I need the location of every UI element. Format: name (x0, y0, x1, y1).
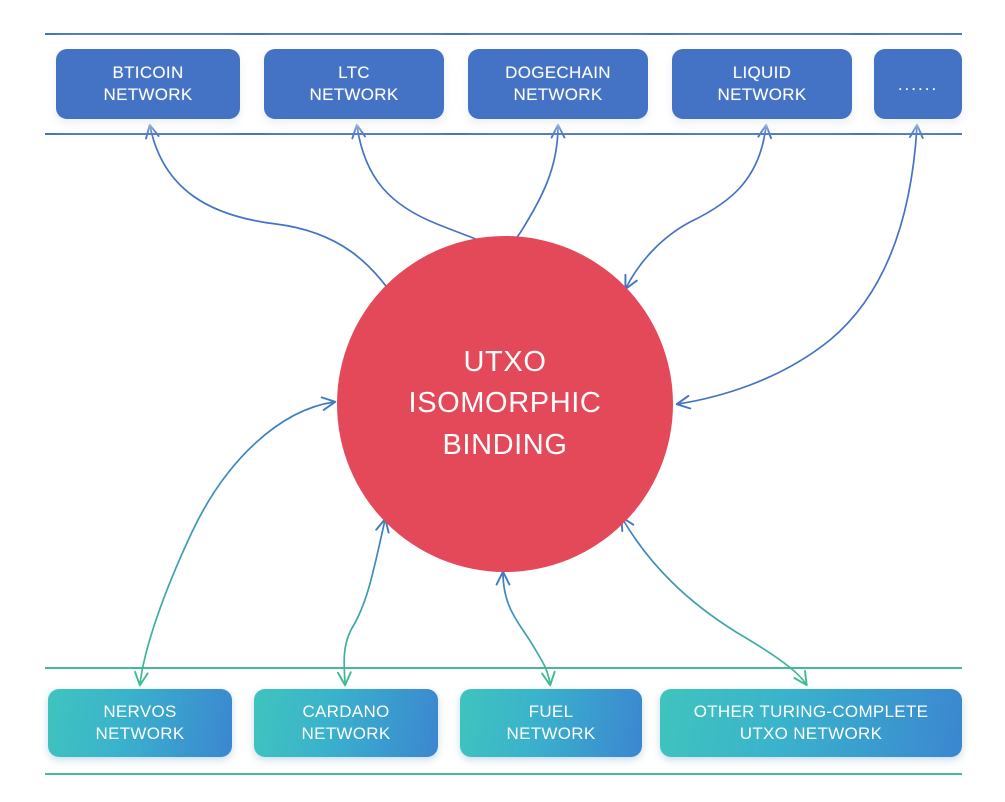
top-rule-upper (45, 33, 962, 35)
hub-utxo-isomorphic-binding[interactable]: UTXO ISOMORPHIC BINDING (337, 236, 673, 572)
node-nervos-network[interactable]: NERVOS NETWORK (48, 689, 232, 757)
node-more-networks[interactable]: ...... (874, 49, 962, 119)
diagram-canvas: BTICOIN NETWORK LTC NETWORK DOGECHAIN NE… (0, 0, 1005, 802)
node-ltc-network[interactable]: LTC NETWORK (264, 49, 444, 119)
connector-liquid (626, 126, 766, 288)
node-label: FUEL NETWORK (460, 701, 642, 746)
node-label: OTHER TURING-COMPLETE UTXO NETWORK (660, 701, 962, 746)
node-fuel-network[interactable]: FUEL NETWORK (460, 689, 642, 757)
node-cardano-network[interactable]: CARDANO NETWORK (254, 689, 438, 757)
bottom-rule-lower (45, 773, 962, 775)
connector-ltc (357, 126, 503, 252)
connector-dogechain (506, 126, 558, 253)
node-bitcoin-network[interactable]: BTICOIN NETWORK (56, 49, 240, 119)
node-label: BTICOIN NETWORK (56, 62, 240, 107)
node-label: DOGECHAIN NETWORK (468, 62, 648, 107)
connector-other-utxo (622, 518, 806, 684)
node-dogechain-network[interactable]: DOGECHAIN NETWORK (468, 49, 648, 119)
node-label: ...... (874, 76, 962, 93)
connector-ellipsis (678, 126, 917, 404)
node-label: NERVOS NETWORK (48, 701, 232, 746)
node-label: CARDANO NETWORK (254, 701, 438, 746)
hub-label: UTXO ISOMORPHIC BINDING (409, 342, 602, 466)
node-label: LIQUID NETWORK (672, 62, 852, 107)
node-liquid-network[interactable]: LIQUID NETWORK (672, 49, 852, 119)
connector-cardano (344, 520, 385, 684)
connector-nervos (140, 402, 334, 684)
top-rule-lower (45, 133, 962, 135)
node-label: LTC NETWORK (264, 62, 444, 107)
bottom-rule-upper (45, 667, 962, 669)
connector-bitcoin (150, 126, 396, 300)
node-other-turing-complete-utxo-network[interactable]: OTHER TURING-COMPLETE UTXO NETWORK (660, 689, 962, 757)
